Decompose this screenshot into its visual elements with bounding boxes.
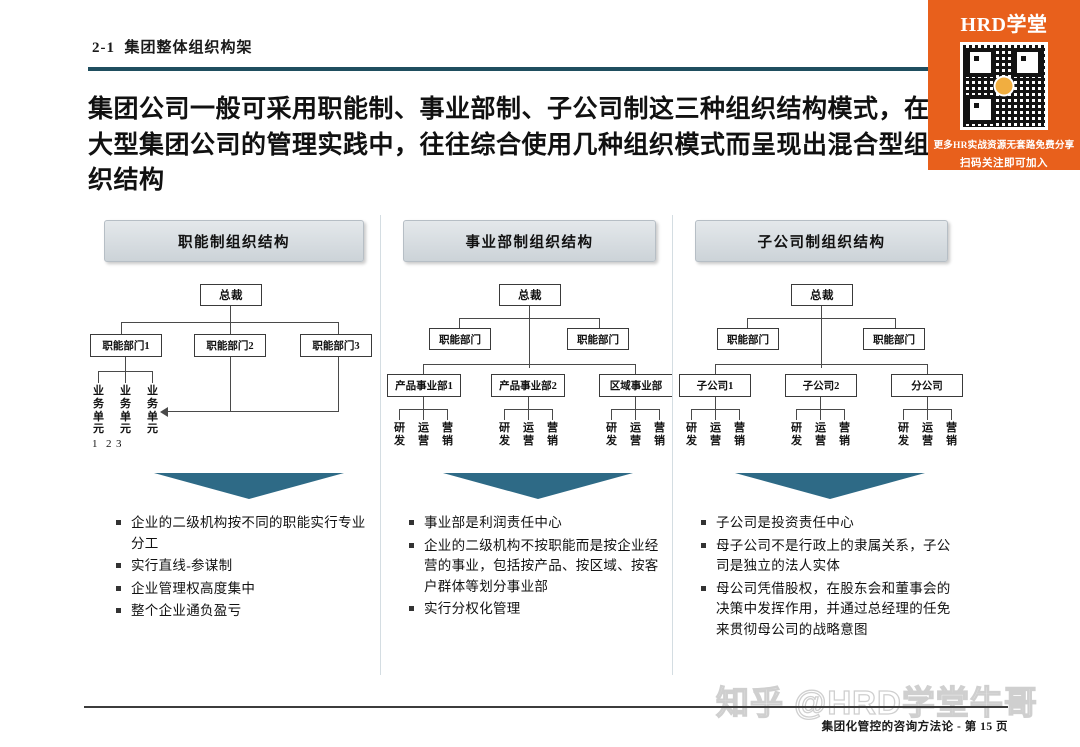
chart2-g2-leaf-2: 运营 — [521, 422, 536, 448]
chart2-g1-leaf-1: 研发 — [392, 422, 407, 448]
promo-line-1: 更多HR实战资源无套路免费分享 — [934, 137, 1075, 151]
comparison-columns: 职能制组织结构 总裁 职能部门1 职能部门2 职能部门3 业务单元 业务单元 业… — [88, 215, 1008, 675]
column-1-chevron-icon — [154, 473, 344, 499]
chart3-root: 总裁 — [791, 284, 853, 306]
chart1-arrowhead-icon — [160, 407, 168, 417]
chart2-g2-leaf-3: 营销 — [545, 422, 560, 448]
chart1-leaf-1: 业务单元 — [91, 385, 106, 436]
chart2-div-1: 产品事业部1 — [387, 374, 461, 397]
chart1-dept-2: 职能部门2 — [194, 334, 266, 357]
qr-code-icon — [960, 42, 1048, 130]
chart3-sub-1: 子公司1 — [679, 374, 751, 397]
column-3-chevron-icon — [735, 473, 925, 499]
column-2-chevron-icon — [443, 473, 633, 499]
footer-divider — [84, 706, 1008, 708]
chart1-leaf-num-1: 1 — [92, 438, 98, 450]
slide-title: 集团整体组织构架 — [125, 40, 253, 56]
chart3-g2-leaf-2: 运营 — [813, 422, 828, 448]
promo-line-2: 扫码关注即可加入 — [960, 155, 1048, 170]
list-item: 实行分权化管理 — [409, 599, 664, 620]
chart2-div-3: 区域事业部 — [599, 374, 673, 397]
qr-promo-box: HRD学堂 更多HR实战资源无套路免费分享 扫码关注即可加入 — [928, 0, 1080, 170]
chart1-leaf-num-3: 3 — [116, 438, 122, 450]
list-item: 子公司是投资责任中心 — [701, 513, 956, 534]
chart1-root: 总裁 — [200, 284, 262, 306]
chart3-g3-leaf-1: 研发 — [896, 422, 911, 448]
column-3-bullets: 子公司是投资责任中心 母子公司不是行政上的隶属关系，子公司是独立的法人实体 母公… — [701, 513, 956, 642]
chart3-g3-leaf-2: 运营 — [920, 422, 935, 448]
chart2-root: 总裁 — [499, 284, 561, 306]
list-item: 企业的二级机构按不同的职能实行专业分工 — [116, 513, 372, 554]
chart3-g2-leaf-1: 研发 — [789, 422, 804, 448]
chart1-dept-1: 职能部门1 — [90, 334, 162, 357]
chart2-div-2: 产品事业部2 — [491, 374, 565, 397]
chart3-g3-leaf-3: 营销 — [944, 422, 959, 448]
chart2-g1-leaf-2: 运营 — [416, 422, 431, 448]
chart2-dept-2: 职能部门 — [567, 328, 629, 350]
list-item: 母子公司不是行政上的隶属关系，子公司是独立的法人实体 — [701, 536, 956, 577]
org-chart-divisional: 总裁 职能部门 职能部门 产品事业部1 产品事业部2 区域事业部 研发 运营 营… — [387, 284, 672, 484]
chart2-g3-leaf-3: 营销 — [652, 422, 667, 448]
org-chart-functional: 总裁 职能部门1 职能部门2 职能部门3 业务单元 业务单元 业务单元 1 2 … — [88, 284, 380, 484]
chart3-dept-1: 职能部门 — [717, 328, 779, 350]
footer-text: 集团化管控的咨询方法论 - 第 15 页 — [822, 718, 1008, 734]
chart2-g1-leaf-3: 营销 — [440, 422, 455, 448]
list-item: 母公司凭借股权，在股东会和董事会的决策中发挥作用，并通过总经理的任免来贯彻母公司… — [701, 579, 956, 641]
list-item: 实行直线-参谋制 — [116, 556, 372, 577]
list-item: 企业的二级机构不按职能而是按企业经营的事业，包括按产品、按区域、按客户群体等划分… — [409, 536, 664, 598]
column-subsidiary-structure: 子公司制组织结构 总裁 职能部门 职能部门 子公司1 子公司2 分公司 研发 运… — [672, 215, 964, 675]
chart1-dept-3: 职能部门3 — [300, 334, 372, 357]
chart3-g1-leaf-1: 研发 — [684, 422, 699, 448]
column-3-title: 子公司制组织结构 — [695, 220, 948, 262]
column-1-title: 职能制组织结构 — [104, 220, 364, 262]
chart1-leaf-num-2: 2 — [106, 438, 112, 450]
watermark: 知乎 @HRD学堂牛哥 — [716, 676, 1038, 724]
chart2-g2-leaf-1: 研发 — [497, 422, 512, 448]
column-divisional-structure: 事业部制组织结构 总裁 职能部门 职能部门 产品事业部1 产品事业部2 区域事业… — [380, 215, 672, 675]
chart2-g3-leaf-2: 运营 — [628, 422, 643, 448]
column-2-title: 事业部制组织结构 — [403, 220, 656, 262]
chart1-leaf-3: 业务单元 — [145, 385, 160, 436]
chart1-leaf-2: 业务单元 — [118, 385, 133, 436]
org-chart-subsidiary: 总裁 职能部门 职能部门 子公司1 子公司2 分公司 研发 运营 营销 — [679, 284, 964, 484]
list-item: 事业部是利润责任中心 — [409, 513, 664, 534]
chart3-g1-leaf-2: 运营 — [708, 422, 723, 448]
page-headline: 集团公司一般可采用职能制、事业部制、子公司制这三种组织结构模式，在大型集团公司的… — [88, 92, 933, 199]
header-divider — [88, 67, 928, 71]
chart2-g3-leaf-1: 研发 — [604, 422, 619, 448]
chart3-dept-2: 职能部门 — [863, 328, 925, 350]
column-functional-structure: 职能制组织结构 总裁 职能部门1 职能部门2 职能部门3 业务单元 业务单元 业… — [88, 215, 380, 675]
chart3-sub-3: 分公司 — [891, 374, 963, 397]
column-2-bullets: 事业部是利润责任中心 企业的二级机构不按职能而是按企业经营的事业，包括按产品、按… — [409, 513, 664, 622]
chart3-sub-2: 子公司2 — [785, 374, 857, 397]
slide-header: 2-1 集团整体组织构架 — [92, 36, 253, 57]
list-item: 整个企业通负盈亏 — [116, 601, 372, 622]
list-item: 企业管理权高度集中 — [116, 579, 372, 600]
slide-number: 2-1 — [92, 40, 115, 56]
chart3-g2-leaf-3: 营销 — [837, 422, 852, 448]
brand-label: HRD学堂 — [961, 8, 1048, 37]
chart2-dept-1: 职能部门 — [429, 328, 491, 350]
column-1-bullets: 企业的二级机构按不同的职能实行专业分工 实行直线-参谋制 企业管理权高度集中 整… — [116, 513, 372, 624]
chart3-g1-leaf-3: 营销 — [732, 422, 747, 448]
